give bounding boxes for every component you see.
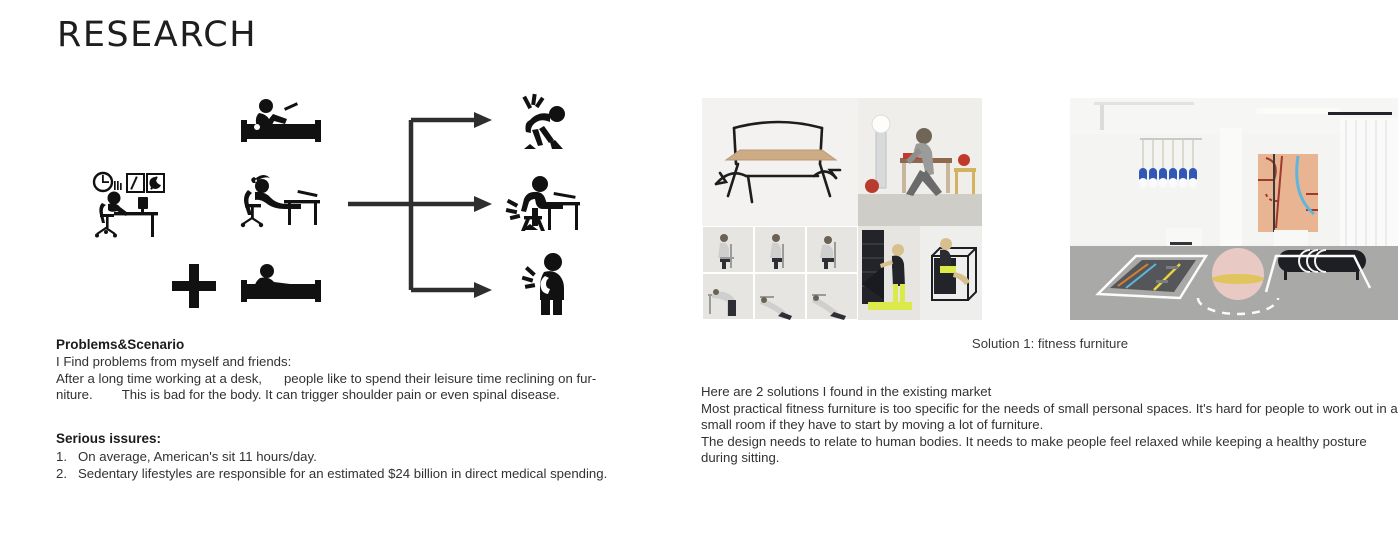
list-item-text: Sedentary lifestyles are responsible for…	[78, 465, 607, 482]
market-line-5: during sitting.	[701, 450, 1400, 467]
page-title: RESEARCH	[57, 18, 257, 53]
market-line-4: The design needs to relate to human bodi…	[701, 434, 1400, 451]
pictogram-shoulder-pain-standing	[520, 250, 576, 316]
list-item-number: 2.	[56, 465, 78, 482]
list-item-number: 1.	[56, 448, 78, 465]
collage-photo-frame-furniture-workout	[858, 226, 982, 320]
pictogram-back-pain-sitting	[504, 174, 584, 236]
problems-line-1: I Find problems from myself and friends:	[56, 354, 616, 371]
list-item: 1. On average, American's sit 11 hours/d…	[56, 448, 636, 465]
market-analysis-block: Here are 2 solutions I found in the exis…	[701, 384, 1400, 467]
problems-line-3: niture. This is bad for the body. It can…	[56, 387, 616, 404]
problem-cause-effect-diagram	[60, 78, 620, 328]
problems-heading: Problems&Scenario	[56, 336, 616, 353]
market-line-3: small room if they have to start by movi…	[701, 417, 1400, 434]
pictogram-lying-on-sofa	[240, 258, 322, 304]
problems-line-2: After a long time working at a desk, peo…	[56, 371, 616, 388]
collage-photo-chair-product-shot	[702, 98, 858, 226]
fitness-furniture-collage	[702, 98, 982, 320]
collage-photo-exercise-sequence-grid	[702, 226, 858, 320]
plus-icon	[168, 260, 220, 312]
market-line-2: Most practical fitness furniture is too …	[701, 401, 1400, 418]
pictogram-back-pain-bending	[512, 92, 576, 150]
serious-issues-block: Serious issures: 1. On average, American…	[56, 430, 636, 482]
pictogram-desk-work	[88, 170, 176, 242]
collage-photo-workout-with-bench	[858, 98, 982, 226]
pictogram-leaning-back-office-chair	[240, 170, 322, 230]
branching-arrow	[348, 102, 508, 307]
list-item: 2. Sedentary lifestyles are responsible …	[56, 465, 636, 482]
gallery-fitness-room-photo	[1070, 98, 1398, 320]
solution-caption: Solution 1: fitness furniture	[702, 336, 1398, 351]
pictogram-reclining-laptop-bed	[240, 94, 322, 146]
list-item-text: On average, American's sit 11 hours/day.	[78, 448, 317, 465]
market-line-1: Here are 2 solutions I found in the exis…	[701, 384, 1400, 401]
problems-scenario-block: Problems&Scenario I Find problems from m…	[56, 336, 616, 404]
issues-list: 1. On average, American's sit 11 hours/d…	[56, 448, 636, 482]
issues-heading: Serious issures:	[56, 430, 636, 447]
